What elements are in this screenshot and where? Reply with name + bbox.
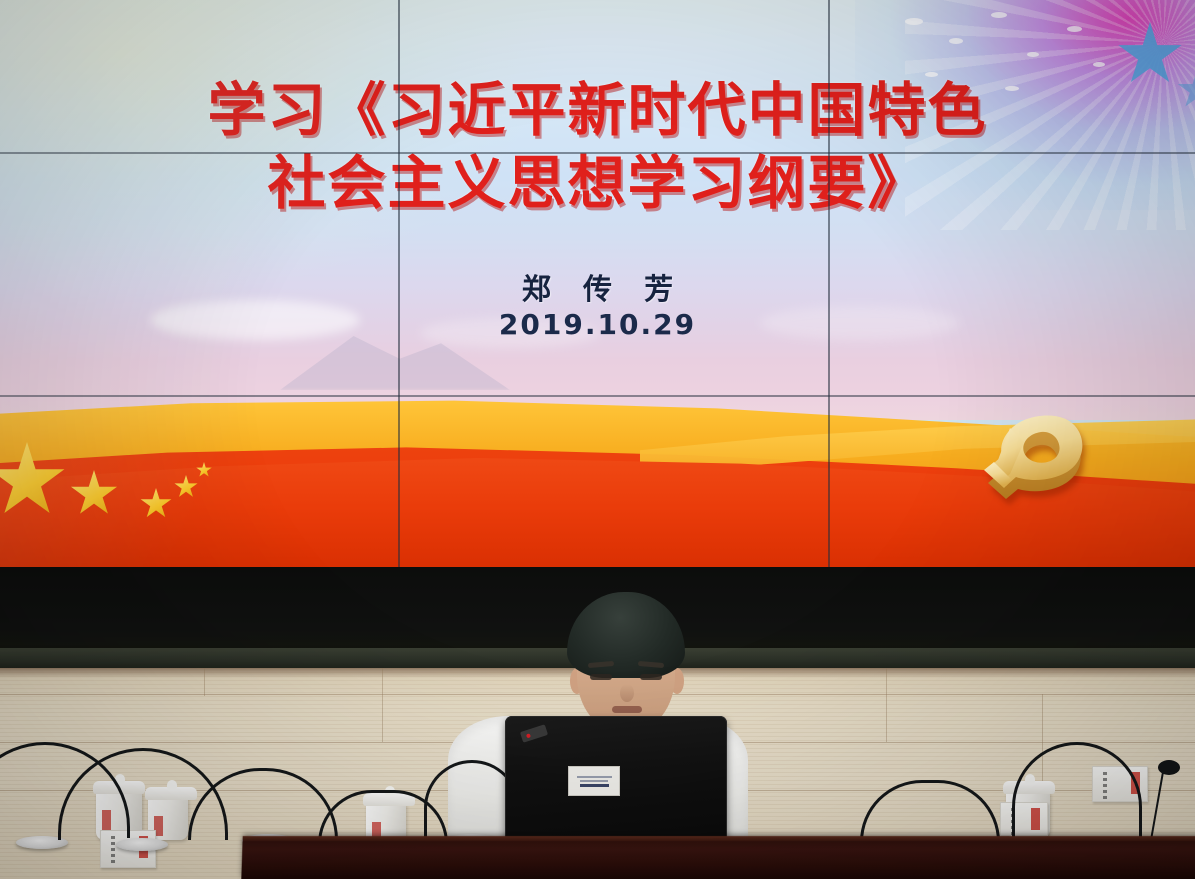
wall-ledge bbox=[0, 648, 1195, 670]
screen-lower-dark-band bbox=[0, 567, 1195, 655]
wall-seam bbox=[886, 668, 887, 742]
wall-seam bbox=[204, 668, 205, 696]
panel-seam-vertical bbox=[828, 0, 830, 567]
conference-table bbox=[241, 836, 1195, 879]
slide-date: 2019.10.29 bbox=[0, 308, 1195, 341]
table-front-edge bbox=[243, 836, 1195, 841]
cpc-hammer-sickle-emblem bbox=[966, 412, 1106, 522]
panel-seam-vertical bbox=[398, 0, 400, 567]
panel-seam-horizontal bbox=[0, 152, 1195, 154]
laptop-asset-sticker bbox=[568, 766, 620, 796]
wall-top-shadow bbox=[0, 668, 1195, 678]
wall-seam bbox=[382, 668, 383, 742]
wall-seam bbox=[0, 694, 1195, 695]
thinkpad-logo-icon bbox=[520, 724, 548, 742]
panel-seam-horizontal bbox=[0, 395, 1195, 397]
slide-title-line-2: 社会主义思想学习纲要》 bbox=[0, 147, 1195, 220]
slide-title: 学习《习近平新时代中国特色 社会主义思想学习纲要》 bbox=[0, 74, 1195, 219]
thinkpad-laptop[interactable] bbox=[505, 716, 727, 844]
slide-title-line-1: 学习《习近平新时代中国特色 bbox=[0, 74, 1195, 147]
slide-speaker-name: 郑 传 芳 bbox=[0, 266, 1195, 308]
screenshot-root: 学习《习近平新时代中国特色 社会主义思想学习纲要》 郑 传 芳 2019.10.… bbox=[0, 0, 1195, 879]
thinkpad-red-dot-icon bbox=[526, 733, 531, 738]
led-video-wall: 学习《习近平新时代中国特色 社会主义思想学习纲要》 郑 传 芳 2019.10.… bbox=[0, 0, 1195, 567]
